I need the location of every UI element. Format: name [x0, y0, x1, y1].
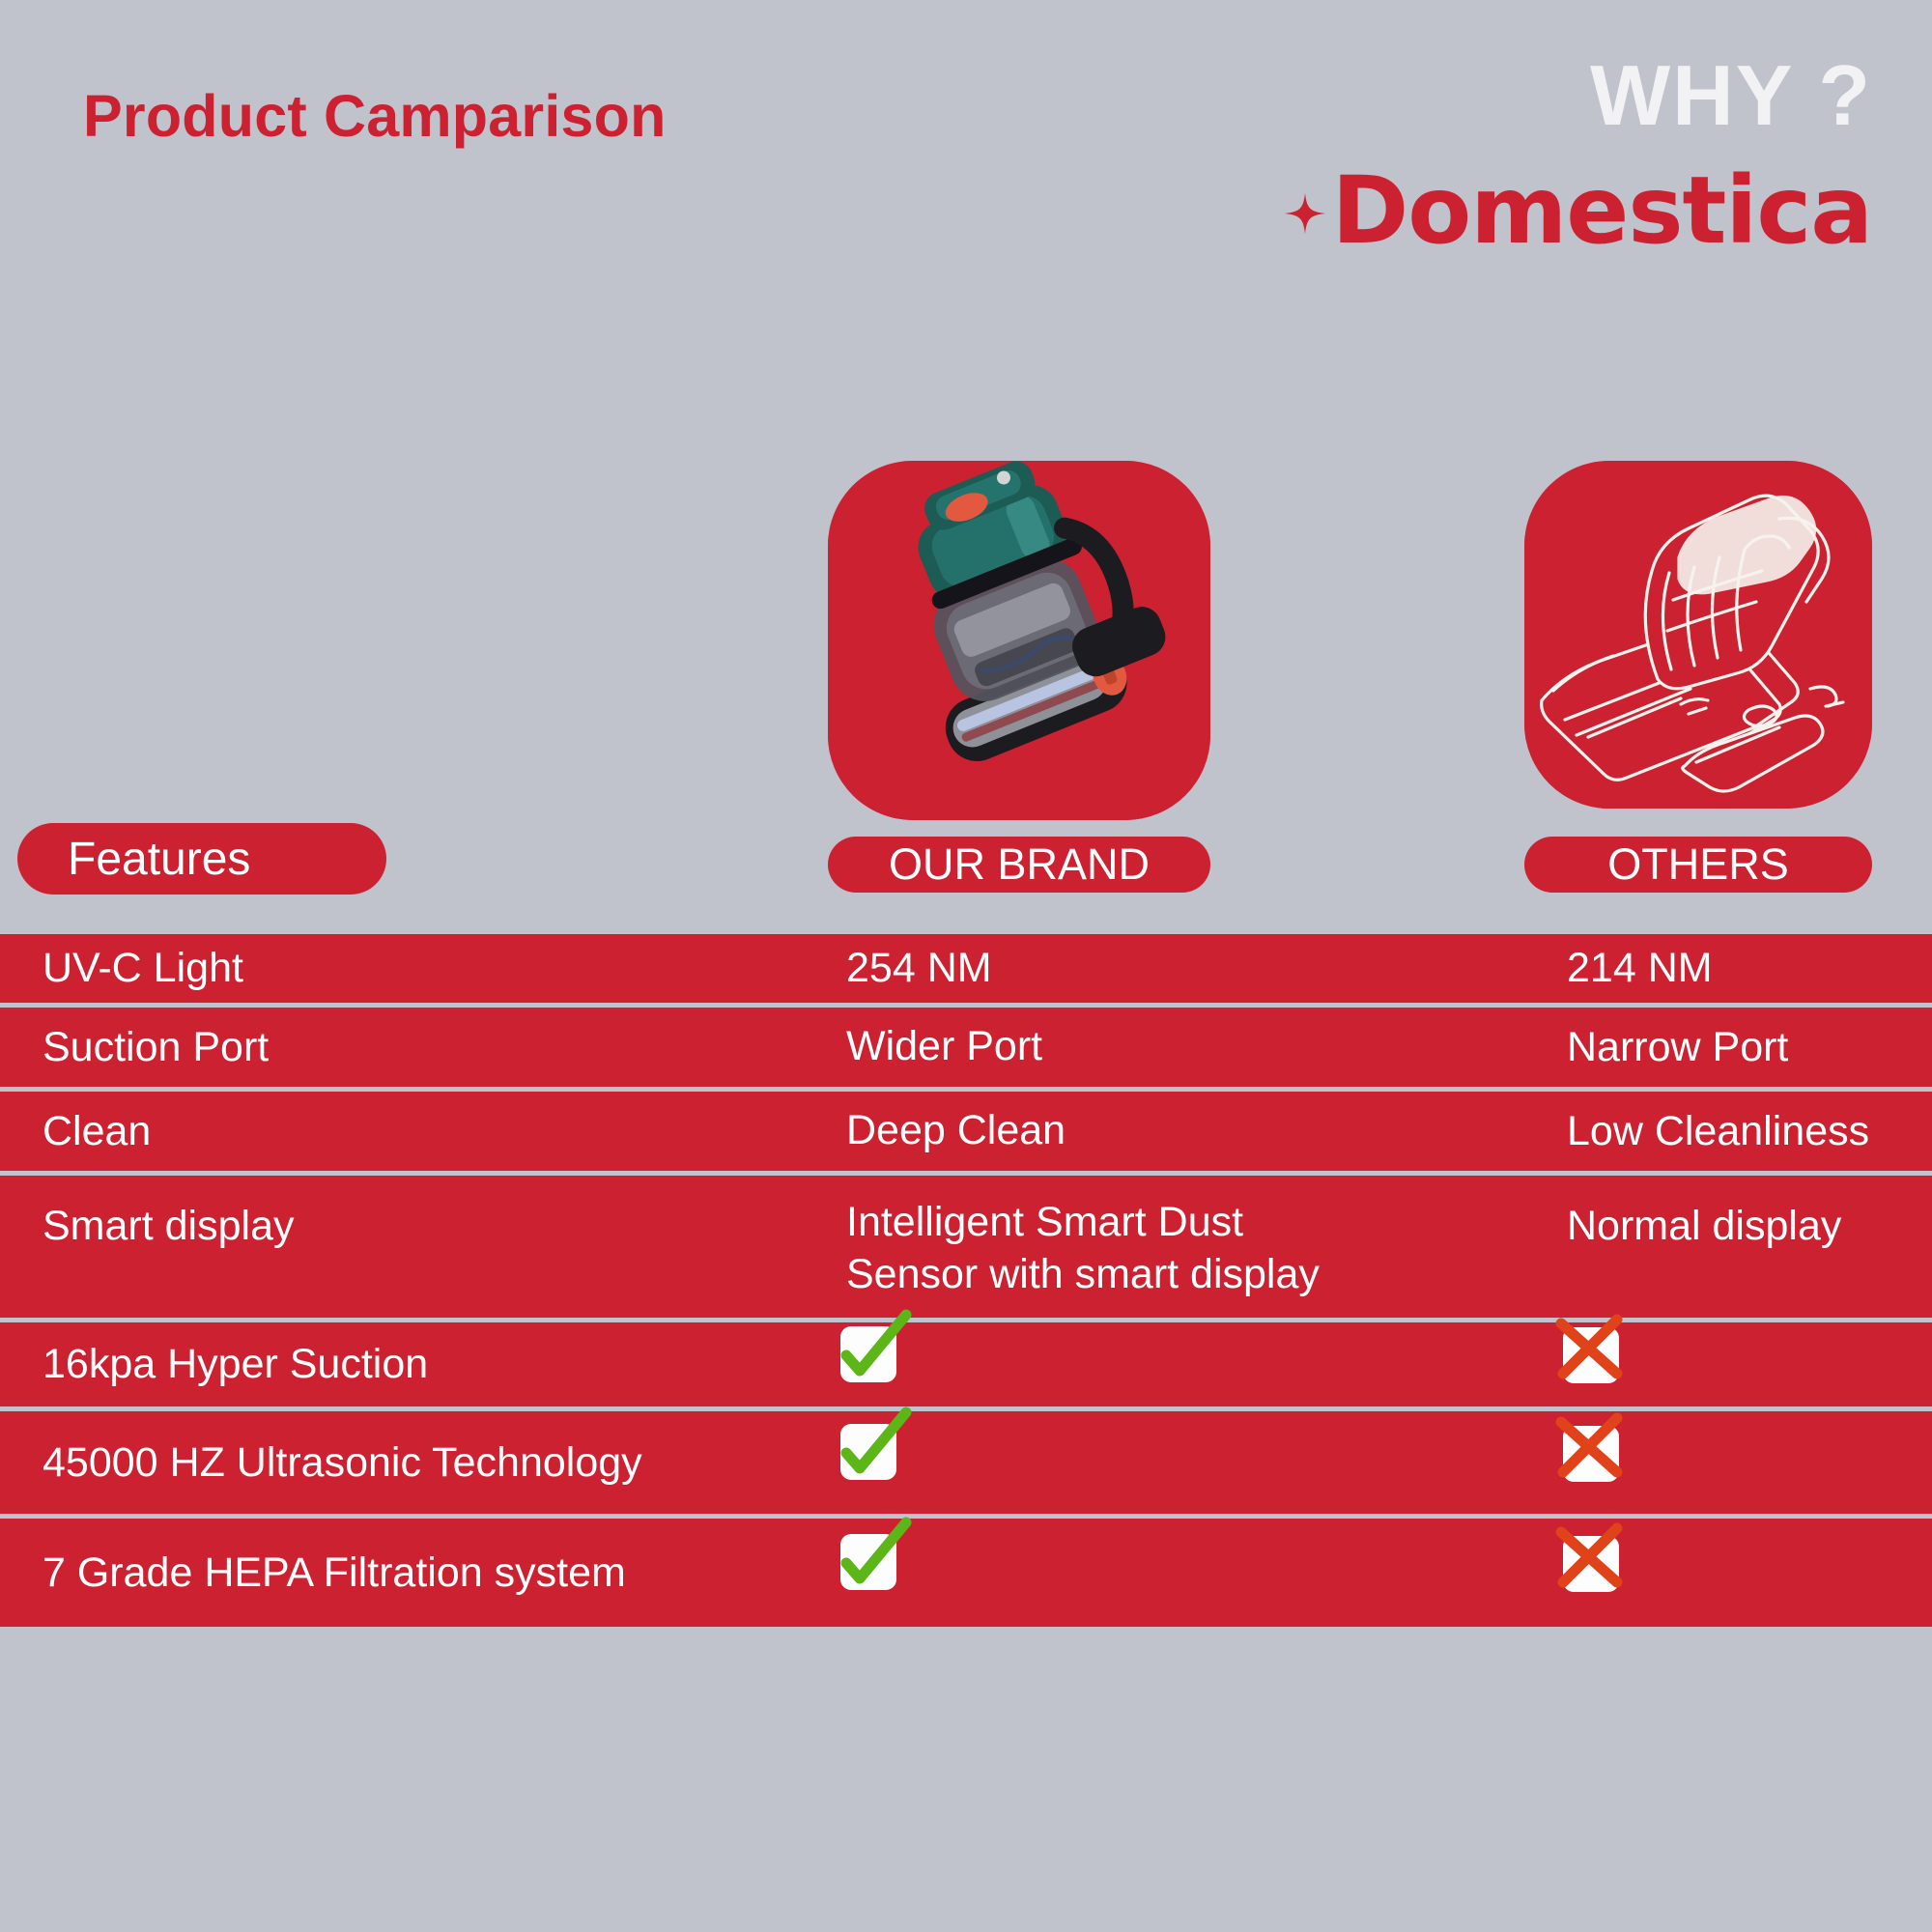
table-row: Suction Port Wider Port Narrow Port: [0, 1008, 1932, 1092]
table-row: 7 Grade HEPA Filtration system: [0, 1519, 1932, 1627]
check-icon: [840, 1326, 904, 1390]
check-icon: [840, 1424, 904, 1488]
row-ours-value: 254 NM: [846, 943, 992, 995]
row-feature-label: 45000 HZ Ultrasonic Technology: [43, 1439, 642, 1487]
row-ours-value-line1: Intelligent Smart Dust: [846, 1197, 1320, 1249]
row-ours-value: Deep Clean: [846, 1105, 1065, 1157]
our-brand-pill-label: OUR BRAND: [889, 839, 1150, 890]
our-brand-product-card: [828, 461, 1210, 820]
generic-upright-vacuum-sketch: [1524, 461, 1872, 809]
cross-icon: [1563, 1426, 1627, 1490]
row-feature-label: Suction Port: [43, 1024, 269, 1071]
row-ours-value: Intelligent Smart Dust Sensor with smart…: [846, 1197, 1320, 1301]
row-others-value: Low Cleanliness: [1567, 1108, 1869, 1155]
features-pill: Features: [17, 823, 386, 895]
table-row: 16kpa Hyper Suction: [0, 1322, 1932, 1411]
row-feature-label: Smart display: [43, 1203, 294, 1250]
row-others-value: Normal display: [1567, 1203, 1841, 1250]
row-feature-label: 16kpa Hyper Suction: [43, 1341, 428, 1388]
our-brand-pill: OUR BRAND: [828, 837, 1210, 893]
others-pill: OTHERS: [1524, 837, 1872, 893]
row-feature-label: 7 Grade HEPA Filtration system: [43, 1549, 626, 1597]
check-icon: [840, 1534, 904, 1598]
table-row: Smart display Intelligent Smart Dust Sen…: [0, 1176, 1932, 1322]
why-heading: WHY ?: [1590, 53, 1872, 138]
row-feature-label: UV-C Light: [43, 945, 243, 992]
row-feature-label: Clean: [43, 1108, 151, 1155]
table-row: UV-C Light 254 NM 214 NM: [0, 934, 1932, 1008]
row-others-value: Narrow Port: [1567, 1024, 1788, 1071]
sparkle-icon: [1284, 192, 1326, 235]
cross-icon: [1563, 1536, 1627, 1600]
handheld-mattress-vacuum-photo: [828, 461, 1210, 820]
comparison-table: UV-C Light 254 NM 214 NM Suction Port Wi…: [0, 934, 1932, 1627]
others-pill-label: OTHERS: [1607, 839, 1789, 890]
others-product-card: [1524, 461, 1872, 809]
product-comparison-infographic: Product Camparison WHY ? Domestica: [0, 0, 1932, 1932]
brand-logo: Domestica: [1284, 164, 1872, 257]
row-ours-value: Wider Port: [846, 1021, 1042, 1073]
features-pill-label: Features: [68, 833, 250, 886]
brand-name: Domestica: [1332, 164, 1872, 257]
page-title: Product Camparison: [83, 82, 667, 150]
row-ours-value-line2: Sensor with smart display: [846, 1249, 1320, 1301]
row-others-value: 214 NM: [1567, 945, 1713, 992]
cross-icon: [1563, 1327, 1627, 1391]
table-row: 45000 HZ Ultrasonic Technology: [0, 1411, 1932, 1519]
table-row: Clean Deep Clean Low Cleanliness: [0, 1092, 1932, 1176]
